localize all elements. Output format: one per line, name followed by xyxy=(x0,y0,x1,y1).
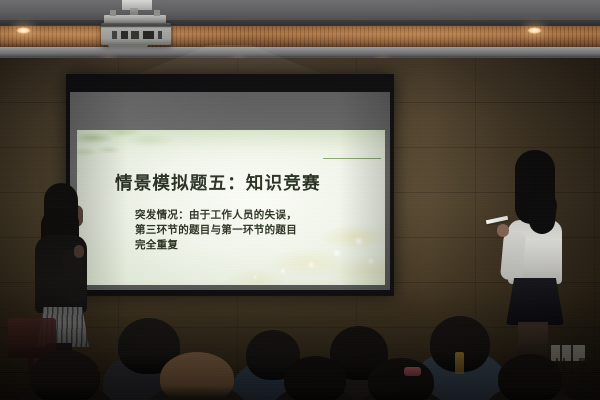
ceiling-slab xyxy=(0,0,600,22)
foliage-stems-icon xyxy=(77,132,173,172)
hair-clip xyxy=(404,367,421,376)
projection-screen-surface: 情景模拟题五：知识竞赛 突发情况：由于工作人员的失误，第三环节的题目与第一环节的… xyxy=(70,92,390,290)
audience-member-head xyxy=(284,356,346,400)
downlight-icon xyxy=(16,27,31,34)
audience-member-head xyxy=(368,358,434,400)
projector-foot xyxy=(108,44,148,47)
downlight-icon xyxy=(527,27,542,34)
ceiling-wood-grill xyxy=(0,26,600,48)
presenter-left-hand xyxy=(74,245,84,258)
projector-ports xyxy=(112,31,162,39)
audience xyxy=(0,280,600,400)
lily-petals-icon xyxy=(219,227,379,283)
presentation-room-photo: 情景模拟题五：知识竞赛 突发情况：由于工作人员的失误，第三环节的题目与第一环节的… xyxy=(0,0,600,400)
presenter-right-arm xyxy=(500,231,526,281)
audience-member-head xyxy=(30,350,100,400)
wood-grill-texture xyxy=(0,26,600,48)
audience-member-head xyxy=(498,354,562,400)
presenter-right-hand xyxy=(497,224,509,237)
projected-slide: 情景模拟题五：知识竞赛 突发情况：由于工作人员的失误，第三环节的题目与第一环节的… xyxy=(77,130,385,285)
slide-title: 情景模拟题五：知识竞赛 xyxy=(115,170,321,195)
water-bottle xyxy=(455,352,464,374)
slide-title-rule xyxy=(323,158,381,159)
audience-member-head xyxy=(160,352,234,400)
